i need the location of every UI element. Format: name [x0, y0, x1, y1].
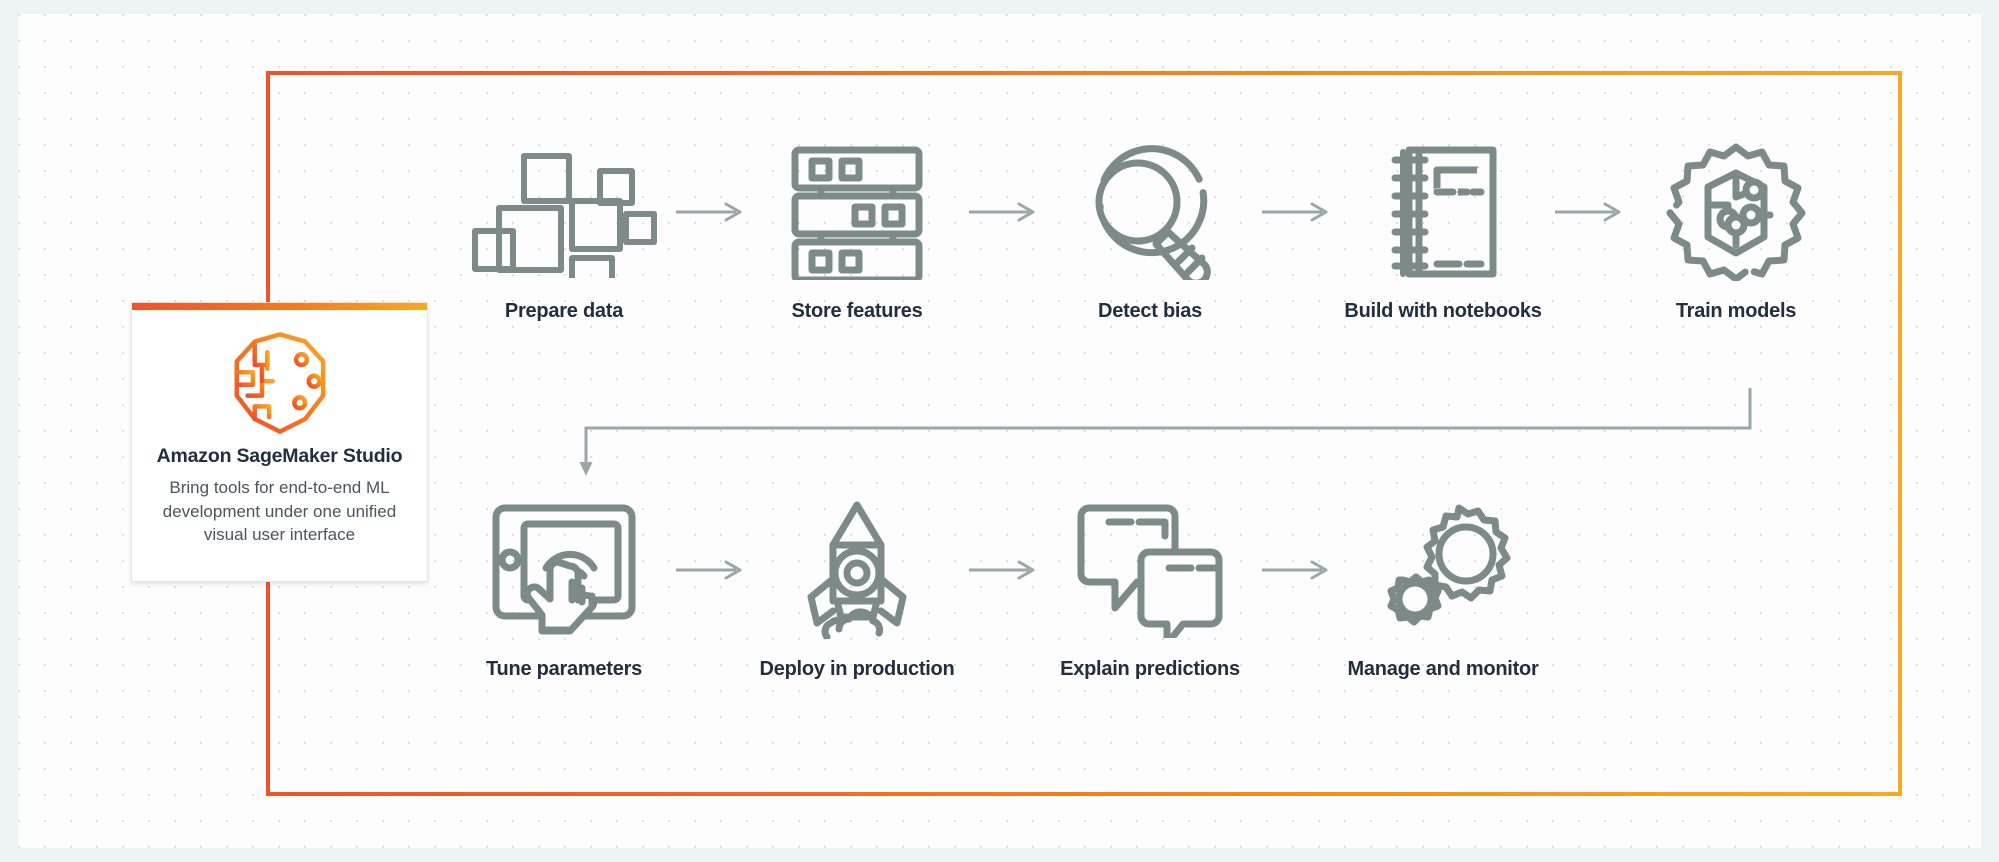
workflow-step-deploy-in-production[interactable]: Deploy in production: [759, 500, 955, 681]
gear-brain-circuit-icon: [1666, 142, 1806, 282]
workflow-step-tune-parameters[interactable]: Tune parameters: [466, 500, 662, 681]
arrow-right-icon: [1248, 500, 1345, 640]
workflow-row-top: Prepare data: [466, 142, 1834, 323]
arrow-right-icon: [662, 500, 759, 640]
sagemaker-studio-card[interactable]: Amazon SageMaker Studio Bring tools for …: [131, 302, 428, 582]
tablet-touch-hand-icon: [490, 500, 638, 640]
card-description: Bring tools for end-to-end ML developmen…: [146, 476, 413, 546]
workflow-step-label: Prepare data: [505, 300, 623, 323]
workflow-step-label: Deploy in production: [760, 658, 955, 681]
workflow-step-train-models[interactable]: Train models: [1638, 142, 1834, 323]
workflow-step-label: Explain predictions: [1060, 658, 1240, 681]
workflow-step-label: Tune parameters: [486, 658, 642, 681]
data-squares-cluster-icon: [471, 142, 657, 282]
workflow-step-label: Train models: [1676, 300, 1796, 323]
spiral-notebook-icon: [1381, 142, 1505, 282]
magnifying-glass-icon: [1080, 142, 1220, 282]
workflow-step-explain-predictions[interactable]: Explain predictions: [1052, 500, 1248, 681]
workflow-step-label: Manage and monitor: [1347, 658, 1538, 681]
arrow-right-icon: [1248, 142, 1345, 282]
workflow-step-build-with-notebooks[interactable]: Build with notebooks: [1345, 142, 1541, 323]
server-rack-icon: [787, 142, 927, 282]
workflow-row-bottom: Tune parameters: [466, 500, 1541, 681]
arrow-right-icon: [1541, 142, 1638, 282]
rocket-launch-icon: [793, 500, 921, 640]
card-accent-bar: [132, 303, 427, 310]
workflow-step-detect-bias[interactable]: Detect bias: [1052, 142, 1248, 323]
card-title: Amazon SageMaker Studio: [132, 445, 427, 468]
diagram-root: Prepare data: [18, 14, 1981, 848]
workflow-step-manage-and-monitor[interactable]: Manage and monitor: [1345, 500, 1541, 681]
wrap-down-left-arrow-icon: [578, 384, 1758, 484]
arrow-right-icon: [662, 142, 759, 282]
sagemaker-brain-hexagon-icon: [226, 329, 334, 437]
two-gears-icon: [1373, 500, 1513, 640]
arrow-right-icon: [955, 142, 1052, 282]
workflow-step-prepare-data[interactable]: Prepare data: [466, 142, 662, 323]
arrow-right-icon: [955, 500, 1052, 640]
speech-bubbles-icon: [1073, 500, 1227, 640]
workflow-step-label: Store features: [792, 300, 923, 323]
workflow-step-label: Detect bias: [1098, 300, 1202, 323]
workflow-step-label: Build with notebooks: [1344, 300, 1541, 323]
workflow-step-store-features[interactable]: Store features: [759, 142, 955, 323]
